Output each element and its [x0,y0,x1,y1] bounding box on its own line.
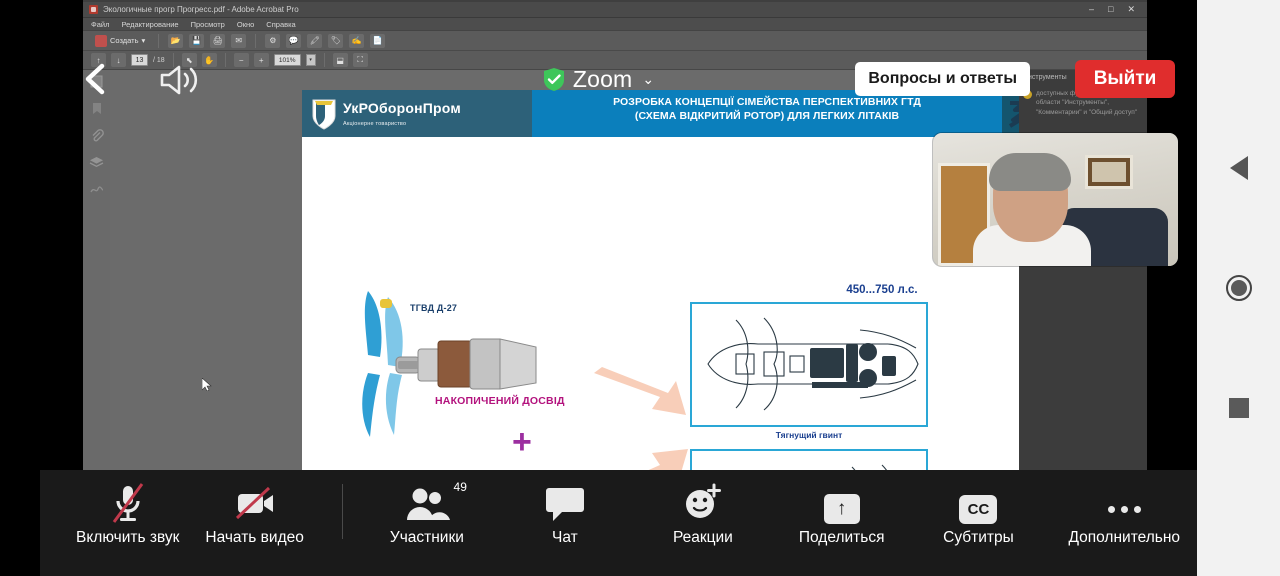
acrobat-window-title: Экологичные прогр Прогресс.pdf - Adobe A… [103,5,299,14]
back-triangle-icon [1230,156,1248,180]
more-button-label: Дополнительно [1068,529,1180,547]
org-name-block: УкРОборонПром Акціонерне товариство [343,100,461,127]
video-participant-hair [989,153,1071,191]
stamp-icon[interactable]: 🏷 [328,34,343,48]
zoom-level-input[interactable]: 101% [274,54,301,66]
create-caret-icon: ▾ [142,36,146,45]
menu-item-view[interactable]: Просмотр [191,20,225,29]
sign-icon[interactable]: ✍ [349,34,364,48]
acrobat-navigation-sidebar [83,70,110,470]
closed-captions-icon: CC [959,482,997,524]
fit-page-icon[interactable]: ⛶ [353,53,368,67]
acrobat-document-area[interactable]: УкРОборонПром Акціонерне товариство РОЗР… [110,70,1147,470]
android-recents-button[interactable] [1197,348,1280,468]
export-icon[interactable]: 📄 [370,34,385,48]
layers-icon[interactable] [89,155,105,169]
arrow-to-bottom-engine-icon [590,437,695,470]
participants-count-badge: 49 [454,480,467,494]
menu-item-help[interactable]: Справка [266,20,295,29]
arrow-to-top-engine-icon [592,365,692,425]
acrobat-app-icon [89,5,98,14]
slide-title-line-1: РОЗРОБКА КОНЦЕПЦІЇ СІМЕЙСТВА ПЕРСПЕКТИВН… [532,95,1002,109]
share-button[interactable]: ↑ Поделиться [799,482,885,547]
share-button-label: Поделиться [799,529,885,547]
save-file-icon[interactable]: 💾 [189,34,204,48]
toolbar-separator [225,53,226,67]
menu-item-window[interactable]: Окно [237,20,254,29]
page-number-input[interactable]: 13 [131,54,148,66]
plus-symbol: + [512,425,532,459]
reactions-button[interactable]: Реакции [661,482,745,547]
ukroboronprom-logo: УкРОборонПром Акціонерне товариство [302,90,532,137]
print-icon[interactable]: 🖨 [210,34,225,48]
reactions-button-label: Реакции [673,529,733,547]
zoom-bottom-toolbar: Включить звук Начать видео [40,470,1197,576]
next-page-icon[interactable]: ↓ [111,53,126,67]
create-button-label: Создать [110,36,139,45]
acrobat-title-bar: Экологичные прогр Прогресс.pdf - Adobe A… [83,2,1147,18]
toolbar-divider [342,484,343,539]
zoom-in-icon[interactable]: + [254,53,269,67]
screen-root: Экологичные прогр Прогресс.pdf - Adobe A… [0,0,1280,576]
org-name-sub: Акціонерне товариство [343,121,461,127]
reactions-smiley-icon [682,482,724,524]
android-navigation-bar [1197,0,1280,576]
captions-button-label: Субтитры [943,529,1014,547]
chat-button-label: Чат [552,529,578,547]
settings-gear-icon[interactable]: ⚙ [265,34,280,48]
start-video-button[interactable]: Начать видео [205,482,304,547]
more-button[interactable]: Дополнительно [1068,482,1180,547]
close-button[interactable]: ✕ [1127,4,1135,15]
maximize-button[interactable]: □ [1108,4,1113,15]
puller-propeller-schematic [692,304,926,425]
engine-concept-box-pusher [690,449,928,470]
participants-button[interactable]: 49 Участники [385,482,469,547]
pusher-propeller-schematic [692,451,926,470]
captions-button[interactable]: CC Субтитры [936,482,1020,547]
page-total-label: / 18 [153,57,165,64]
label-accumulated-experience: НАКОПИЧЕНИЙ ДОСВІД [435,395,565,407]
video-camera-off-icon [233,482,277,524]
toolbar-separator [324,53,325,67]
menu-item-file[interactable]: Файл [91,20,109,29]
acrobat-tools-pane: Инструменты Комментарии доступных функци… [1019,70,1147,470]
menu-item-edit[interactable]: Редактирование [121,20,178,29]
zoom-dropdown-icon[interactable]: ▾ [306,54,316,66]
acrobat-body: УкРОборонПром Акціонерне товариство РОЗР… [83,70,1147,470]
participants-button-label: Участники [390,529,464,547]
email-icon[interactable]: ✉ [231,34,246,48]
mouse-cursor-icon [202,378,212,391]
label-tgvd-d27: ТГВД Д-27 [410,303,457,313]
toolbar-separator [255,34,256,48]
video-wall-picture [1085,155,1133,189]
home-circle-icon [1226,275,1252,301]
slide-title: РОЗРОБКА КОНЦЕПЦІЇ СІМЕЙСТВА ПЕРСПЕКТИВН… [532,95,1002,123]
comment-bubble-icon[interactable]: 💬 [286,34,301,48]
shared-screen-area: Экологичные прогр Прогресс.pdf - Adobe A… [0,0,1197,576]
create-icon [95,35,107,47]
highlight-icon[interactable]: 🖍 [307,34,322,48]
android-back-button[interactable] [1197,108,1280,228]
back-button[interactable] [78,62,112,96]
cc-badge: CC [959,495,997,524]
acrobat-menu-bar: Файл Редактирование Просмотр Окно Справк… [83,18,1147,31]
signatures-icon[interactable] [89,182,105,196]
acrobat-toolbar-primary: Создать ▾ 📂 💾 🖨 ✉ ⚙ 💬 🖍 🏷 ✍ 📄 [83,31,1147,51]
participants-icon: 49 [403,482,451,524]
slide-title-line-2: (СХЕМА ВІДКРИТИЙ РОТОР) ДЛЯ ЛЕГКИХ ЛІТАК… [532,109,1002,123]
shield-logo-icon [310,97,338,131]
zoom-out-icon[interactable]: − [234,53,249,67]
recents-square-icon [1229,398,1249,418]
qa-button[interactable]: Вопросы и ответы [855,62,1030,96]
unmute-button-label: Включить звук [76,529,179,547]
org-name-main: УкРОборонПром [343,100,461,116]
open-file-icon[interactable]: 📂 [168,34,183,48]
chat-button[interactable]: Чат [523,482,607,547]
unmute-button[interactable]: Включить звук [76,482,179,547]
label-power-range: 450...750 л.с. [762,284,1002,296]
microphone-muted-icon [108,482,148,524]
speaker-volume-icon[interactable] [158,64,204,96]
android-home-button[interactable] [1197,228,1280,348]
engine-concept-box-puller [690,302,928,427]
more-dots-icon [1108,482,1141,524]
toolbar-separator [158,34,159,48]
attachments-paperclip-icon[interactable] [89,128,105,142]
bookmarks-icon[interactable] [89,101,105,115]
self-view-video[interactable] [933,133,1178,266]
minimize-button[interactable]: – [1089,4,1094,15]
create-button[interactable]: Создать ▾ [91,34,149,48]
fit-width-icon[interactable]: ⬓ [333,53,348,67]
start-video-button-label: Начать видео [205,529,304,547]
share-screen-up-arrow-icon: ↑ [824,482,860,524]
label-puller-propeller: Тягнущий гвинт [690,430,928,440]
leave-meeting-button[interactable]: Выйти [1075,60,1175,98]
chat-bubble-icon [544,482,586,524]
